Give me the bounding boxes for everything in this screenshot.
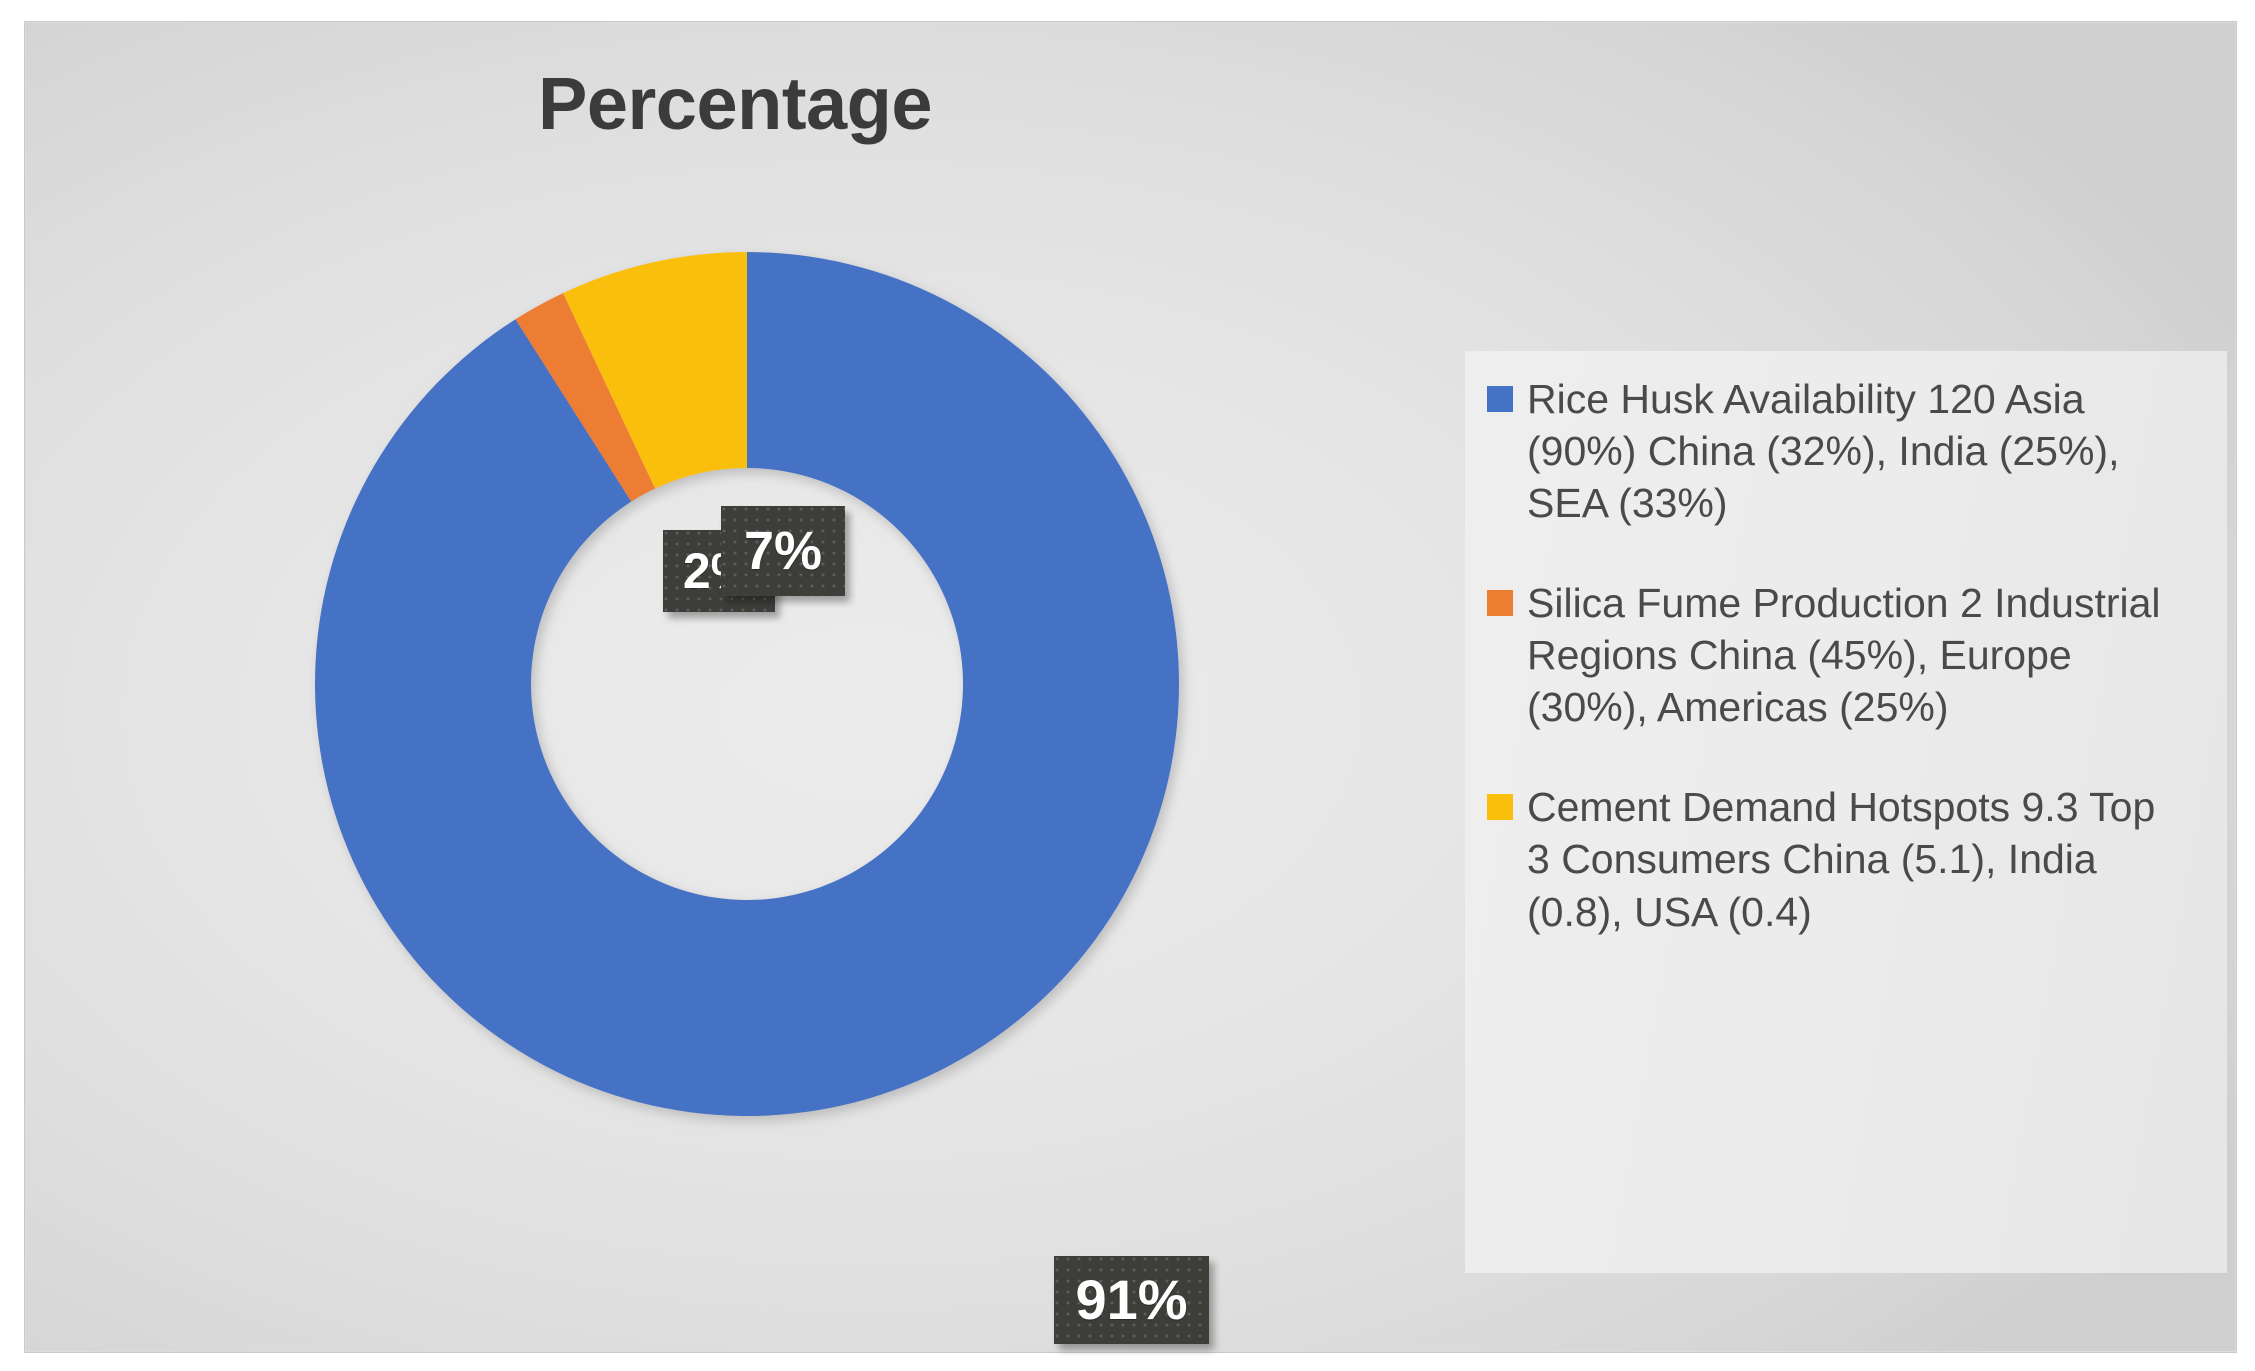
chart-frame: Percentage 2% 7% 91% Rice Husk Availabil… [24,21,2237,1353]
legend-label-silica-fume: Silica Fume Production 2 Industrial Regi… [1527,577,2163,733]
doughnut-chart [297,234,1197,1134]
legend-item-cement-demand[interactable]: Cement Demand Hotspots 9.3 Top 3 Consume… [1487,781,2209,937]
legend-item-rice-husk[interactable]: Rice Husk Availability 120 Asia (90%) Ch… [1487,373,2209,529]
legend-swatch-icon-silica-fume [1487,590,1513,616]
data-label-rice-husk: 91% [1054,1256,1209,1344]
legend-swatch-icon-rice-husk [1487,386,1513,412]
chart-legend: Rice Husk Availability 120 Asia (90%) Ch… [1465,351,2227,1273]
data-label-cement-demand: 7% [721,506,845,596]
legend-label-rice-husk: Rice Husk Availability 120 Asia (90%) Ch… [1527,373,2163,529]
chart-title: Percentage [25,67,1445,141]
legend-swatch-icon-cement-demand [1487,794,1513,820]
doughnut-plot-area: 2% 7% 91% [297,234,1197,1134]
legend-label-cement-demand: Cement Demand Hotspots 9.3 Top 3 Consume… [1527,781,2163,937]
legend-item-silica-fume[interactable]: Silica Fume Production 2 Industrial Regi… [1487,577,2209,733]
doughnut-slice-group [315,252,1179,1116]
